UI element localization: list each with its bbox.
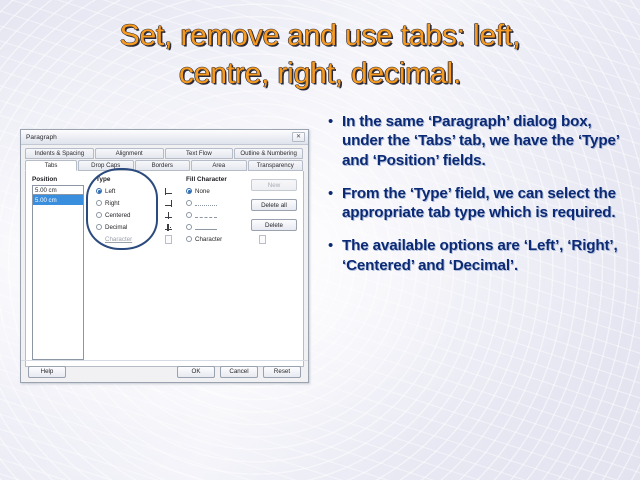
type-option-label: Character (105, 236, 162, 243)
dialog-title: Paragraph (26, 134, 292, 141)
dialog-titlebar: Paragraph ✕ (21, 130, 308, 145)
type-option-right[interactable]: Right (96, 197, 172, 209)
type-group: Type Left Right Centered (96, 176, 172, 245)
paragraph-dialog: Paragraph ✕ Indents & Spacing Alignment … (20, 129, 309, 383)
radio-icon[interactable] (186, 224, 192, 230)
bullet-text: From the ‘Type’ field, we can select the… (342, 184, 626, 223)
tab-left-icon (165, 188, 172, 195)
dotted-line-icon (195, 203, 217, 206)
type-option-left[interactable]: Left (96, 185, 172, 197)
type-label: Type (96, 176, 172, 183)
bullet-text: The available options are ‘Left’, ‘Right… (342, 236, 626, 275)
tab-alignment[interactable]: Alignment (95, 148, 164, 159)
slide-title: Set, remove and use tabs: left, centre, … (18, 17, 622, 93)
delete-all-button[interactable]: Delete all (251, 199, 297, 211)
cancel-button[interactable]: Cancel (220, 366, 258, 378)
fill-option-label: Character (195, 236, 256, 243)
bullet-list: • In the same ‘Paragraph’ dialog box, un… (326, 112, 626, 289)
dialog-tabstrip: Indents & Spacing Alignment Text Flow Ou… (21, 145, 308, 171)
radio-icon[interactable] (96, 188, 102, 194)
list-item: • From the ‘Type’ field, we can select t… (326, 184, 626, 223)
radio-icon[interactable] (186, 200, 192, 206)
position-list[interactable]: 5.00 cm (32, 195, 84, 360)
tab-transparency[interactable]: Transparency (248, 160, 304, 171)
tab-area[interactable]: Area (191, 160, 247, 171)
bullet-dot-icon: • (326, 112, 342, 131)
tab-right-icon (165, 200, 172, 207)
tab-tabs[interactable]: Tabs (25, 160, 77, 171)
radio-icon[interactable] (96, 200, 102, 206)
tab-row-upper: Indents & Spacing Alignment Text Flow Ou… (25, 148, 304, 159)
list-item: • In the same ‘Paragraph’ dialog box, un… (326, 112, 626, 170)
help-button[interactable]: Help (28, 366, 66, 378)
tab-center-icon (165, 212, 172, 219)
solid-line-icon (195, 227, 217, 230)
type-option-label: Decimal (105, 224, 163, 231)
position-input[interactable]: 5.00 cm (32, 185, 84, 195)
dialog-body: Position 5.00 cm 5.00 cm Type Left Right (25, 171, 304, 367)
type-option-character: Character (96, 233, 172, 245)
radio-icon[interactable] (96, 212, 102, 218)
radio-icon[interactable] (186, 212, 192, 218)
dialog-footer: Help OK Cancel Reset (21, 360, 308, 382)
new-button: New (251, 179, 297, 191)
tab-drop-caps[interactable]: Drop Caps (78, 160, 134, 171)
tab-outline-numbering[interactable]: Outline & Numbering (234, 148, 303, 159)
tab-row-lower: Tabs Drop Caps Borders Area Transparency (25, 160, 304, 171)
tab-borders[interactable]: Borders (135, 160, 191, 171)
position-group: Position 5.00 cm 5.00 cm (32, 176, 84, 360)
type-option-label: Centered (105, 212, 163, 219)
reset-button[interactable]: Reset (263, 366, 301, 378)
tab-text-flow[interactable]: Text Flow (165, 148, 234, 159)
character-input (165, 235, 172, 244)
ok-button[interactable]: OK (177, 366, 215, 378)
list-item[interactable]: 5.00 cm (33, 195, 83, 205)
position-label: Position (32, 176, 84, 183)
delete-button[interactable]: Delete (251, 219, 297, 231)
close-icon[interactable]: ✕ (292, 132, 305, 142)
radio-icon[interactable] (186, 236, 192, 242)
radio-icon[interactable] (96, 224, 102, 230)
type-option-decimal[interactable]: Decimal (96, 221, 172, 233)
dashed-line-icon (195, 215, 217, 218)
list-item: • The available options are ‘Left’, ‘Rig… (326, 236, 626, 275)
type-option-label: Left (105, 188, 163, 195)
tab-action-buttons: New Delete all Delete (251, 179, 297, 239)
tab-indents-spacing[interactable]: Indents & Spacing (25, 148, 94, 159)
tab-decimal-icon (165, 224, 172, 231)
radio-icon[interactable] (186, 188, 192, 194)
bullet-dot-icon: • (326, 184, 342, 203)
type-option-label: Right (105, 200, 163, 207)
bullet-text: In the same ‘Paragraph’ dialog box, unde… (342, 112, 626, 170)
type-option-centered[interactable]: Centered (96, 209, 172, 221)
bullet-dot-icon: • (326, 236, 342, 255)
